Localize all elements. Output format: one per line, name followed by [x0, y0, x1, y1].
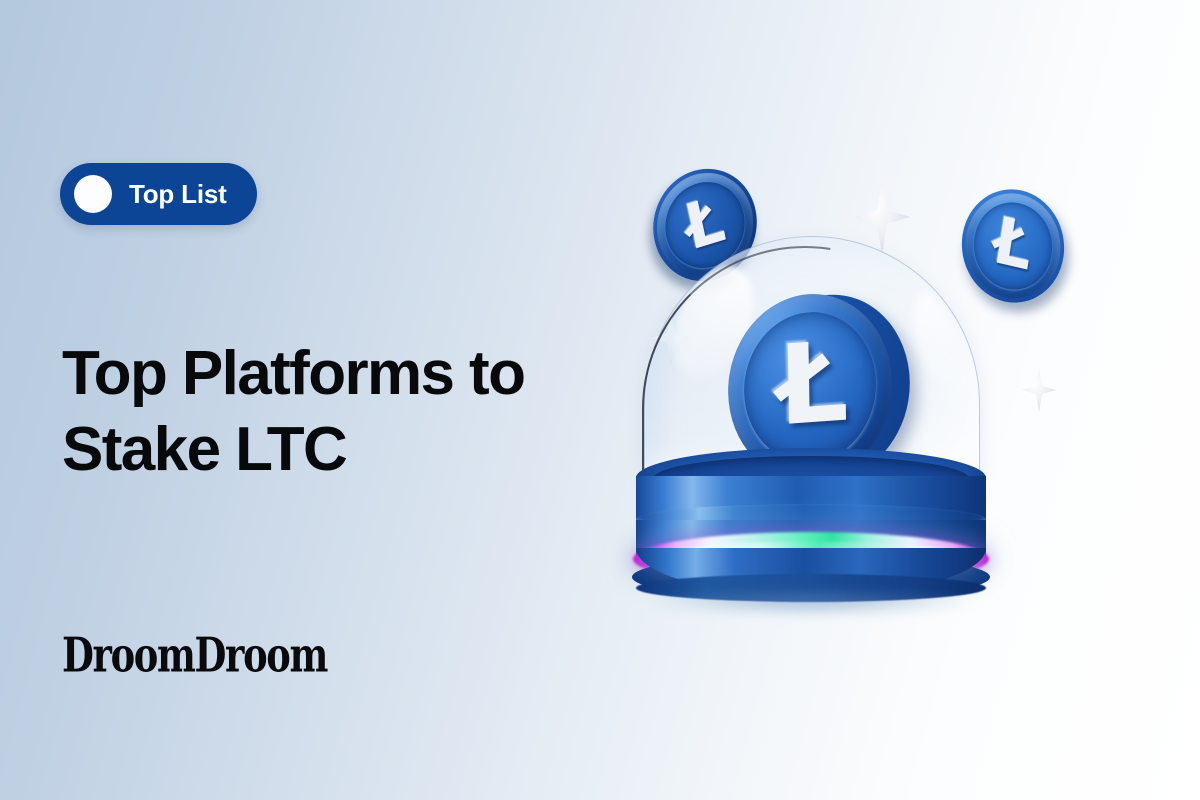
- banner-canvas: Top List Top Platforms to Stake LTC Droo…: [0, 0, 1200, 800]
- base-drop-shadow: [654, 590, 968, 616]
- filled-circle-icon: [74, 175, 112, 213]
- top-list-badge-label: Top List: [129, 179, 227, 210]
- litecoin-symbol-glyph: Ł: [777, 326, 849, 441]
- page-title-line-2: Stake LTC: [62, 412, 662, 488]
- page-title-line-1: Top Platforms to: [62, 336, 662, 412]
- top-list-badge: Top List: [60, 163, 257, 225]
- platform-base: [636, 448, 986, 596]
- litecoin-staking-illustration: Ł Ł Ł: [628, 150, 1098, 620]
- staking-platform-group: Ł: [636, 236, 986, 596]
- page-title: Top Platforms to Stake LTC: [62, 336, 662, 488]
- left-content-column: Top List Top Platforms to Stake LTC Droo…: [60, 0, 680, 800]
- sparkle-icon: [1022, 368, 1056, 412]
- droomdroom-logo: DroomDroom: [62, 628, 327, 684]
- dome-highlight: [906, 288, 964, 390]
